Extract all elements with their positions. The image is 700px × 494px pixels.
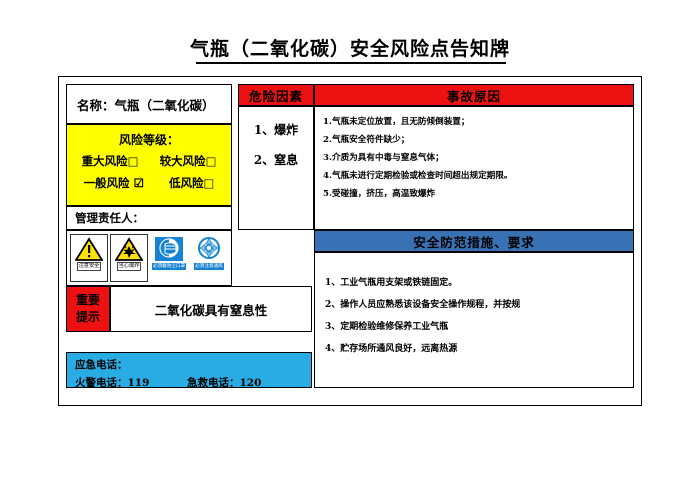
- page-title: 气瓶（二氧化碳）安全风险点告知牌: [0, 34, 700, 61]
- measure-item: 4、贮存场所通风良好，远离热源: [325, 343, 625, 355]
- emergency-phone-row: 火警电话：119 急救电话：120: [75, 375, 311, 390]
- important-notice-text: 二氧化碳具有窒息性: [155, 300, 268, 319]
- cause-item: 1.气瓶未定位放置，且无防倾倒装置；: [323, 117, 625, 128]
- safety-measures-header: 安全防范措施、要求: [314, 230, 634, 252]
- cause-item: 3.介质为具有中毒与窒息气体；: [323, 153, 625, 164]
- emergency-phone-title: 应急电话：: [75, 357, 311, 372]
- accident-causes-body: 1.气瓶未定位放置，且无防倾倒装置； 2.气瓶安全符件缺少； 3.介质为具有中毒…: [314, 106, 634, 230]
- ventilation-sign-icon: 必须注意通风: [190, 234, 228, 282]
- medical-phone-label: 急救电话：120: [187, 375, 261, 390]
- pictogram-strip: 注意安全 当心爆炸 必须戴防尘口罩: [66, 230, 232, 286]
- cause-item: 4.气瓶未进行定期检验或检查时间超出规定期限。: [323, 171, 625, 182]
- risk-option-high[interactable]: 较大风险□: [160, 153, 217, 169]
- wear-mask-caption: 必须戴防尘口罩: [152, 263, 186, 270]
- risk-option-low[interactable]: 低风险□: [169, 175, 214, 191]
- risk-level-row-top: 重大风险□ 较大风险□: [67, 153, 231, 169]
- emergency-phone-cell: 应急电话： 火警电话：119 急救电话：120: [66, 352, 312, 388]
- equipment-name-cell: 名称：气瓶（二氧化碳）: [66, 84, 232, 124]
- attention-safety-caption: 注意安全: [77, 262, 102, 271]
- important-notice-label-line1: 重要: [76, 292, 100, 309]
- hazard-item: 1、爆炸: [239, 121, 313, 138]
- beware-explosion-caption: 当心爆炸: [117, 262, 142, 271]
- measure-item: 1、工业气瓶用支架或铁链固定。: [325, 277, 625, 289]
- risk-level-title: 风险等级：: [67, 131, 231, 148]
- manager-cell: 管理责任人：: [66, 206, 232, 230]
- wear-mask-sign-icon: 必须戴防尘口罩: [150, 234, 188, 282]
- cause-item: 2.气瓶安全符件缺少；: [323, 135, 625, 146]
- risk-level-cell: 风险等级： 重大风险□ 较大风险□ 一般风险 ☑ 低风险□: [66, 124, 232, 206]
- hazard-factors-body: 1、爆炸 2、窒息: [238, 106, 314, 230]
- safety-notice-board: 气瓶（二氧化碳）安全风险点告知牌 名称：气瓶（二氧化碳） 风险等级： 重大风险□…: [0, 0, 700, 494]
- measure-item: 3、定期检验维修保养工业气瓶: [325, 321, 625, 333]
- hazard-factors-header: 危险因素: [238, 84, 314, 106]
- risk-level-row-bottom: 一般风险 ☑ 低风险□: [67, 175, 231, 191]
- hazard-item: 2、窒息: [239, 151, 313, 168]
- manager-label: 管理责任人：: [67, 210, 144, 226]
- equipment-name-label: 名称：气瓶（二氧化碳）: [67, 95, 215, 114]
- important-notice-text-cell: 二氧化碳具有窒息性: [110, 286, 312, 332]
- cause-item: 5.受碰撞，挤压，高温致爆炸: [323, 189, 625, 200]
- risk-option-general[interactable]: 一般风险 ☑: [84, 175, 144, 191]
- title-underline: [196, 62, 506, 64]
- fire-phone-label: 火警电话：119: [75, 375, 187, 390]
- important-notice-label-line2: 提示: [76, 309, 100, 326]
- important-notice-label: 重要 提示: [66, 286, 110, 332]
- risk-option-major[interactable]: 重大风险□: [82, 153, 139, 169]
- safety-measures-body: 1、工业气瓶用支架或铁链固定。 2、操作人员应熟悉该设备安全操作规程，并按规 3…: [314, 252, 634, 388]
- beware-explosion-sign-icon: 当心爆炸: [110, 234, 148, 282]
- attention-safety-sign-icon: 注意安全: [70, 234, 108, 282]
- accident-causes-header: 事故原因: [314, 84, 634, 106]
- measure-item: 2、操作人员应熟悉该设备安全操作规程，并按规: [325, 299, 625, 311]
- ventilation-caption: 必须注意通风: [194, 263, 224, 270]
